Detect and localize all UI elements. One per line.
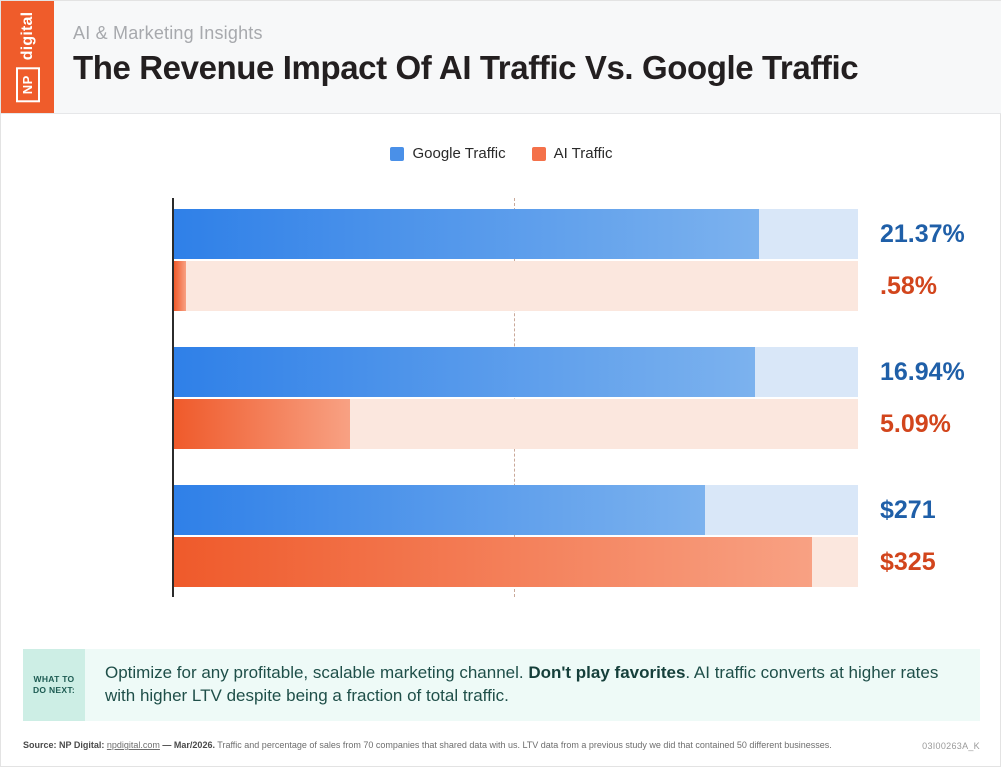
legend-swatch-icon [532,147,546,161]
logo-np-mark: NP [16,67,40,102]
asset-id-code: 03I00263A_K [922,741,980,751]
page-title: The Revenue Impact Of AI Traffic Vs. Goo… [73,50,858,86]
bar-track [174,261,858,311]
source-detail: Traffic and percentage of sales from 70 … [215,740,832,750]
bar-row-google: 16.94% [174,347,1001,397]
bar-track [174,209,858,259]
bar-groups: % of Traffic 21.37% .58% % of Sales [174,187,1001,607]
infographic-page: NP digital AI & Marketing Insights The R… [0,0,1001,767]
callout-tag-line1: WHAT TO [34,674,75,685]
what-to-do-next-callout: WHAT TO DO NEXT: Optimize for any profit… [23,649,980,721]
bar-track [174,537,858,587]
legend-item-ai-traffic: AI Traffic [532,145,613,162]
bar-row-google: $271 [174,485,1001,535]
callout-tag: WHAT TO DO NEXT: [23,649,85,721]
source-label: Source: NP Digital: [23,740,104,750]
callout-text-part1: Optimize for any profitable, scalable ma… [105,663,528,682]
bar-fill-ai [174,399,350,449]
bar-fill-ai [174,537,812,587]
bar-fill-google [174,485,705,535]
legend-item-google-traffic: Google Traffic [390,145,505,162]
bar-fill-google [174,209,759,259]
callout-tag-line2: DO NEXT: [33,685,75,696]
bar-row-ai: $325 [174,537,1001,587]
header-text: AI & Marketing Insights The Revenue Impa… [73,23,858,86]
bar-fill-google [174,347,755,397]
bar-track [174,399,858,449]
source-link[interactable]: npdigital.com [107,740,160,750]
logo-wordmark: digital [19,12,37,61]
legend-label: AI Traffic [554,145,613,162]
bar-row-ai: .58% [174,261,1001,311]
np-digital-logo: NP digital [1,1,54,113]
bar-chart: % of Traffic 21.37% .58% % of Sales [1,187,1001,607]
bar-track [174,485,858,535]
footer: Source: NP Digital: npdigital.com — Mar/… [23,737,980,755]
callout-body: Optimize for any profitable, scalable ma… [85,649,980,721]
bar-value-label: $325 [880,537,936,587]
bar-row-ai: 5.09% [174,399,1001,449]
bar-fill-ai [174,261,186,311]
source-note: Source: NP Digital: npdigital.com — Mar/… [23,740,832,752]
bar-row-google: 21.37% [174,209,1001,259]
callout-text-bold: Don't play favorites [528,663,685,682]
legend-swatch-icon [390,147,404,161]
bar-value-label: 16.94% [880,347,965,397]
eyebrow-label: AI & Marketing Insights [73,23,858,44]
source-date: — Mar/2026. [162,740,215,750]
header: NP digital AI & Marketing Insights The R… [1,1,1001,114]
bar-value-label: .58% [880,261,937,311]
bar-value-label: 21.37% [880,209,965,259]
chart-legend: Google Traffic AI Traffic [1,145,1001,162]
bar-track [174,347,858,397]
bar-value-label: 5.09% [880,399,951,449]
bar-value-label: $271 [880,485,936,535]
legend-label: Google Traffic [412,145,505,162]
